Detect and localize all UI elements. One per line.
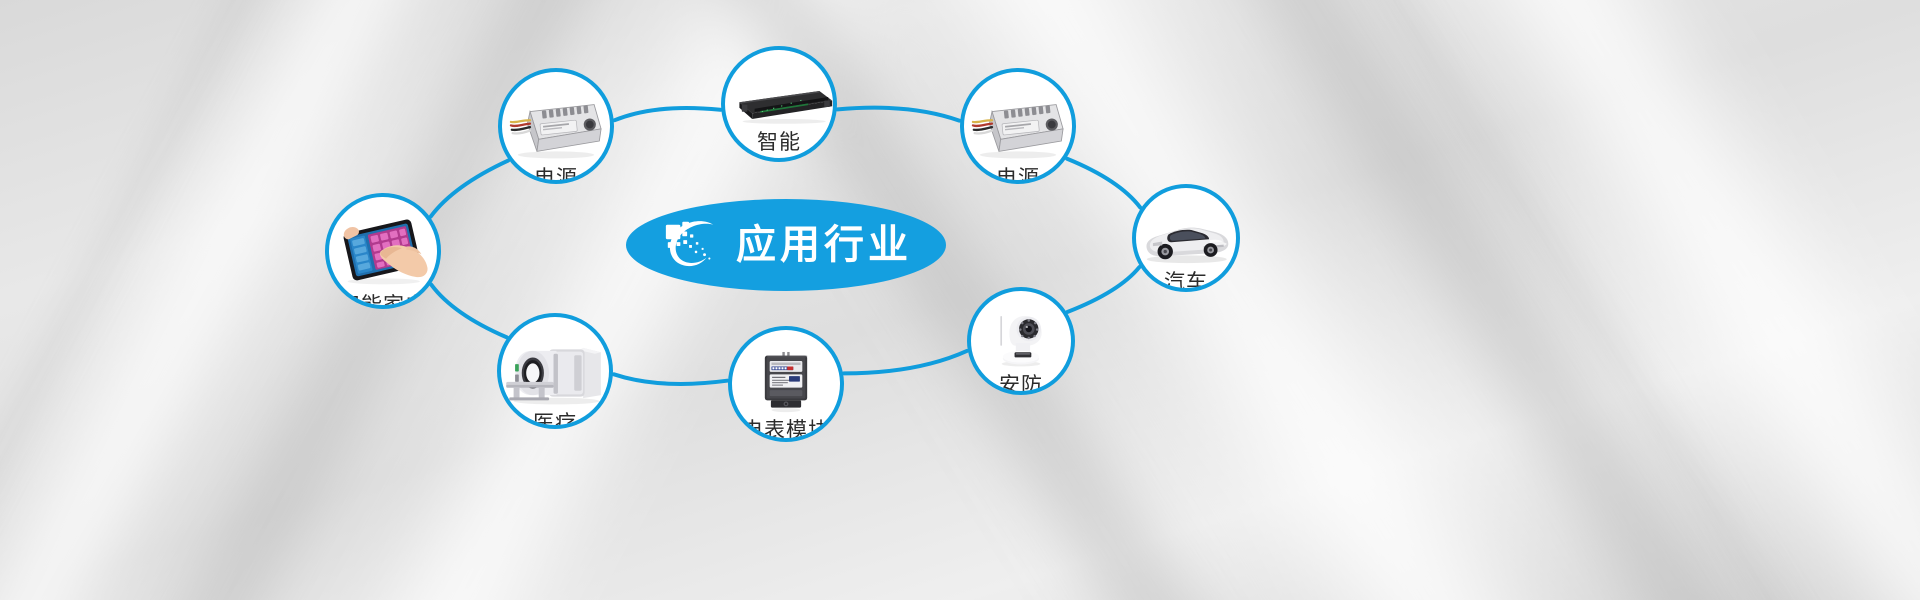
- node-meter[interactable]: 电表模块: [728, 326, 844, 442]
- node-power-left[interactable]: 电源: [498, 68, 614, 184]
- node-label-power-right: 电源: [996, 168, 1040, 184]
- center-badge[interactable]: 应用行业: [626, 199, 946, 291]
- node-smart-home[interactable]: 智能家电: [325, 193, 441, 309]
- node-power-right[interactable]: 电源: [960, 68, 1076, 184]
- sports-car-icon: [1136, 214, 1236, 266]
- node-medical[interactable]: 医疗: [497, 313, 613, 429]
- electric-meter-icon: [760, 348, 812, 414]
- ip-camera-icon: [990, 307, 1052, 369]
- node-label-automotive: 汽车: [1164, 272, 1208, 292]
- node-label-security: 安防: [999, 375, 1043, 395]
- application-industry-diagram: 应用行业 电源智能电源汽车安防电表模块医疗智能家电: [0, 0, 1920, 600]
- node-label-smart-home: 智能家电: [339, 295, 427, 309]
- atx-power-supply-icon: [966, 94, 1070, 162]
- atx-power-supply-icon: [964, 94, 1072, 162]
- node-label-smart: 智能: [757, 132, 801, 153]
- node-security[interactable]: 安防: [967, 287, 1075, 395]
- ip-camera-icon: [971, 307, 1071, 369]
- node-label-medical: 医疗: [533, 413, 577, 429]
- electric-meter-icon: [732, 348, 840, 414]
- rack-server-icon: [725, 80, 833, 126]
- atx-power-supply-icon: [502, 94, 610, 162]
- node-label-power-left: 电源: [534, 168, 578, 184]
- mri-scanner-icon: [501, 339, 609, 407]
- sports-car-icon: [1136, 214, 1236, 266]
- node-label-meter: 电表模块: [742, 420, 830, 441]
- tablet-touch-icon: [329, 215, 437, 289]
- rack-server-icon: [725, 80, 833, 126]
- center-badge-label: 应用行业: [736, 225, 912, 265]
- atx-power-supply-icon: [504, 94, 608, 162]
- tablet-touch-icon: [334, 215, 432, 289]
- mri-scanner-icon: [503, 339, 607, 407]
- node-smart[interactable]: 智能: [721, 46, 837, 162]
- orbit-swoosh-logo-icon: [660, 216, 722, 274]
- node-automotive[interactable]: 汽车: [1132, 184, 1240, 292]
